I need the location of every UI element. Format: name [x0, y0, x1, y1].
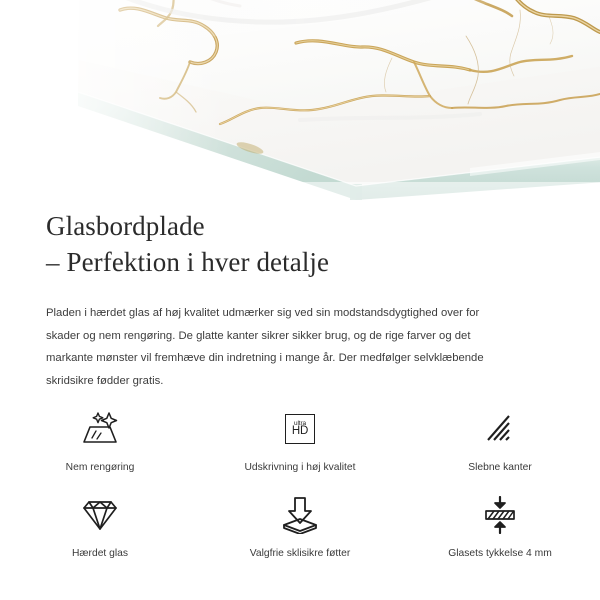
feature-anti-slip-feet: Valgfrie sklisikre føtter — [200, 488, 400, 574]
thickness-arrows-icon — [480, 492, 520, 538]
feature-label: Glasets tykkelse 4 mm — [448, 547, 552, 561]
beveled-edge-icon — [482, 406, 518, 452]
ultra-hd-icon: ultra HD — [285, 406, 315, 452]
page-title-line-2: – Perfektion i hver detalje — [46, 244, 554, 280]
product-hero-image — [0, 0, 600, 200]
feature-easy-cleaning: Nem rengøring — [0, 402, 200, 488]
diamond-icon — [80, 492, 120, 538]
arrow-on-pad-icon — [280, 492, 320, 538]
ultra-hd-badge-bottom: HD — [292, 426, 308, 438]
product-description-text: Pladen i hærdet glas af høj kvalitet udm… — [0, 280, 560, 392]
feature-print-quality: ultra HD Udskrivning i høj kvalitet — [200, 402, 400, 488]
feature-label: Udskrivning i høj kvalitet — [244, 461, 355, 475]
feature-label: Slebne kanter — [468, 461, 532, 475]
sparkle-sponge-icon — [78, 406, 122, 452]
page-title-line-1: Glasbordplade — [46, 208, 554, 244]
product-description-page: Glasbordplade – Perfektion i hver detalj… — [0, 0, 600, 600]
feature-label: Valgfrie sklisikre føtter — [250, 547, 351, 561]
feature-label: Nem rengøring — [66, 461, 135, 475]
feature-glass-thickness: Glasets tykkelse 4 mm — [400, 488, 600, 574]
feature-grid: Nem rengøring ultra HD Udskrivning i høj… — [0, 402, 600, 574]
feature-tempered-glass: Hærdet glas — [0, 488, 200, 574]
feature-label: Hærdet glas — [72, 547, 128, 561]
feature-polished-edges: Slebne kanter — [400, 402, 600, 488]
product-copy: Glasbordplade – Perfektion i hver detalj… — [0, 200, 600, 392]
glass-tabletop-illustration — [0, 0, 600, 200]
ultra-hd-badge: ultra HD — [285, 414, 315, 444]
page-title: Glasbordplade – Perfektion i hver detalj… — [0, 200, 600, 280]
